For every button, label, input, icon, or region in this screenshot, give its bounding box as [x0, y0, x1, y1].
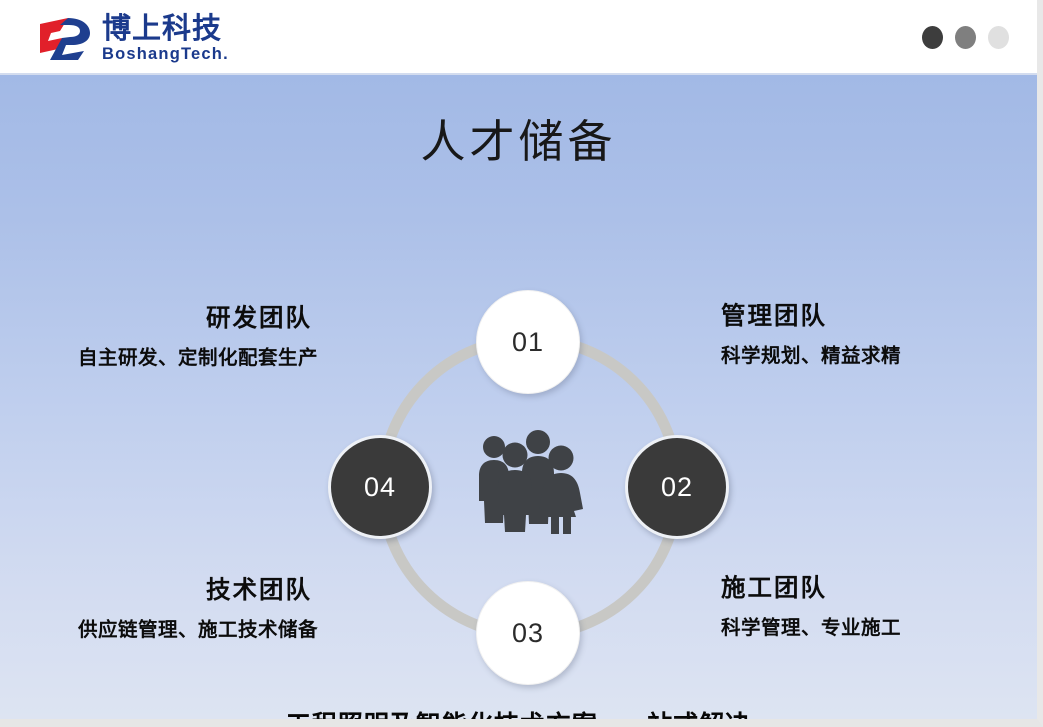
- cycle-node-01-label: 01: [512, 327, 544, 358]
- logo-chinese-name: 博上科技: [102, 14, 229, 44]
- slide-header: 博上科技 BoshangTech.: [0, 0, 1037, 75]
- cycle-node-03[interactable]: 03: [476, 581, 580, 685]
- company-logo: 博上科技 BoshangTech.: [38, 12, 229, 64]
- cycle-node-01[interactable]: 01: [476, 290, 580, 394]
- quadrant-manage-desc: 科学规划、精益求精: [721, 344, 1021, 367]
- boshang-logo-mark: [38, 14, 94, 62]
- quadrant-manage: 管理团队 科学规划、精益求精: [721, 301, 1021, 368]
- cycle-node-02[interactable]: 02: [625, 435, 729, 539]
- dot-dark-icon: [922, 26, 943, 49]
- logo-wordmark: 博上科技 BoshangTech.: [102, 14, 229, 63]
- cycle-node-03-label: 03: [512, 618, 544, 649]
- presentation-slide: 博上科技 BoshangTech. 人才储备 研发团队 自主研发、定制化配套生产…: [0, 0, 1043, 727]
- cycle-node-04-label: 04: [364, 472, 396, 503]
- cycle-node-02-label: 02: [661, 472, 693, 503]
- slide-body: 人才储备 研发团队 自主研发、定制化配套生产 管理团队 科学规划、精益求精 技术…: [0, 75, 1037, 719]
- logo-english-name: BoshangTech.: [102, 46, 229, 63]
- quadrant-build: 施工团队 科学管理、专业施工: [721, 573, 1021, 640]
- quadrant-build-title: 施工团队: [721, 573, 1021, 602]
- cycle-diagram: 01 02 03 04: [324, 287, 736, 691]
- header-dot-group: [922, 26, 1009, 49]
- dot-light-icon: [988, 26, 1009, 49]
- quadrant-manage-title: 管理团队: [721, 301, 1021, 330]
- slide-footer-text: 工程照明及智能化技术方案– 一站式解决: [0, 705, 1037, 719]
- cycle-node-04[interactable]: 04: [328, 435, 432, 539]
- page-title: 人才储备: [0, 105, 1037, 170]
- people-group-icon: [470, 427, 588, 537]
- quadrant-build-desc: 科学管理、专业施工: [721, 616, 1021, 639]
- dot-medium-icon: [955, 26, 976, 49]
